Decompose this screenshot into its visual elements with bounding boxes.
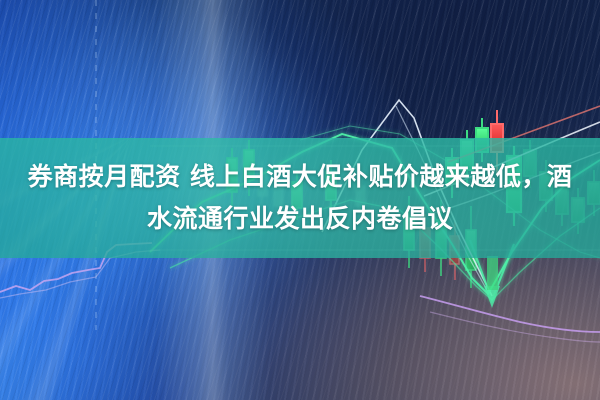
- headline-line-2: 水流通行业发出反内卷倡议: [147, 199, 453, 239]
- trend-line-violet-right: [420, 296, 600, 332]
- banner-image: 券商按月配资 线上白酒大促补贴价越来越低，酒 水流通行业发出反内卷倡议: [0, 0, 600, 400]
- headline-line-1: 券商按月配资 线上白酒大促补贴价越来越低，酒: [28, 157, 573, 197]
- headline-text: 券商按月配资 线上白酒大促补贴价越来越低，酒 水流通行业发出反内卷倡议: [0, 138, 600, 258]
- trend-line-violet-right-2: [430, 312, 600, 342]
